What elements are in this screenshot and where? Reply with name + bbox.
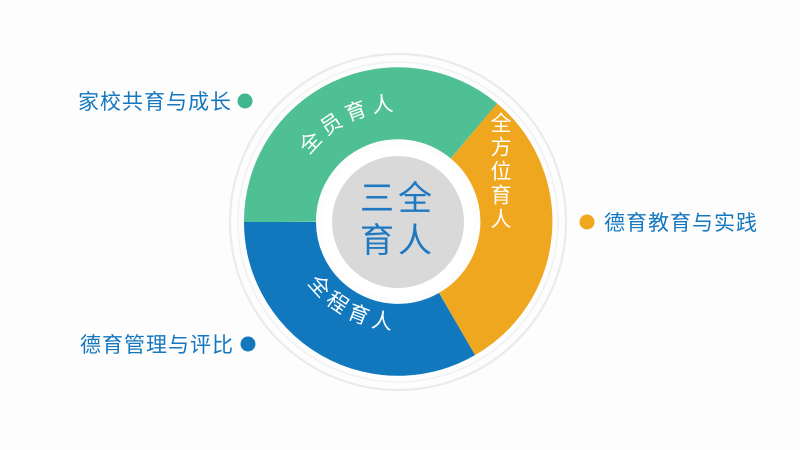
callout-dot-deyu-guanli[interactable]: [241, 337, 256, 352]
callout-dot-deyu-jiaoyu[interactable]: [580, 215, 595, 230]
callout-label-jiaxiao: 家校共育与成长: [78, 90, 232, 114]
center-title-line2: 育人: [360, 221, 436, 261]
three-complete-education-donut-diagram: 全员育人 全程育人 全方位育人 三全 育人 家校共育与成长 德育教育与实践 德育…: [0, 0, 800, 450]
segment-quan-fang-wei-label: 全方位育人: [488, 112, 512, 232]
callout-label-deyu-jiaoyu: 德育教育与实践: [604, 211, 758, 235]
diagram-canvas: 全员育人 全程育人 全方位育人 三全 育人 家校共育与成长 德育教育与实践 德育…: [0, 0, 800, 450]
center-title-line1: 三全: [360, 179, 436, 219]
callout-dot-jiaxiao[interactable]: [238, 94, 253, 109]
callout-label-deyu-guanli: 德育管理与评比: [80, 333, 234, 357]
